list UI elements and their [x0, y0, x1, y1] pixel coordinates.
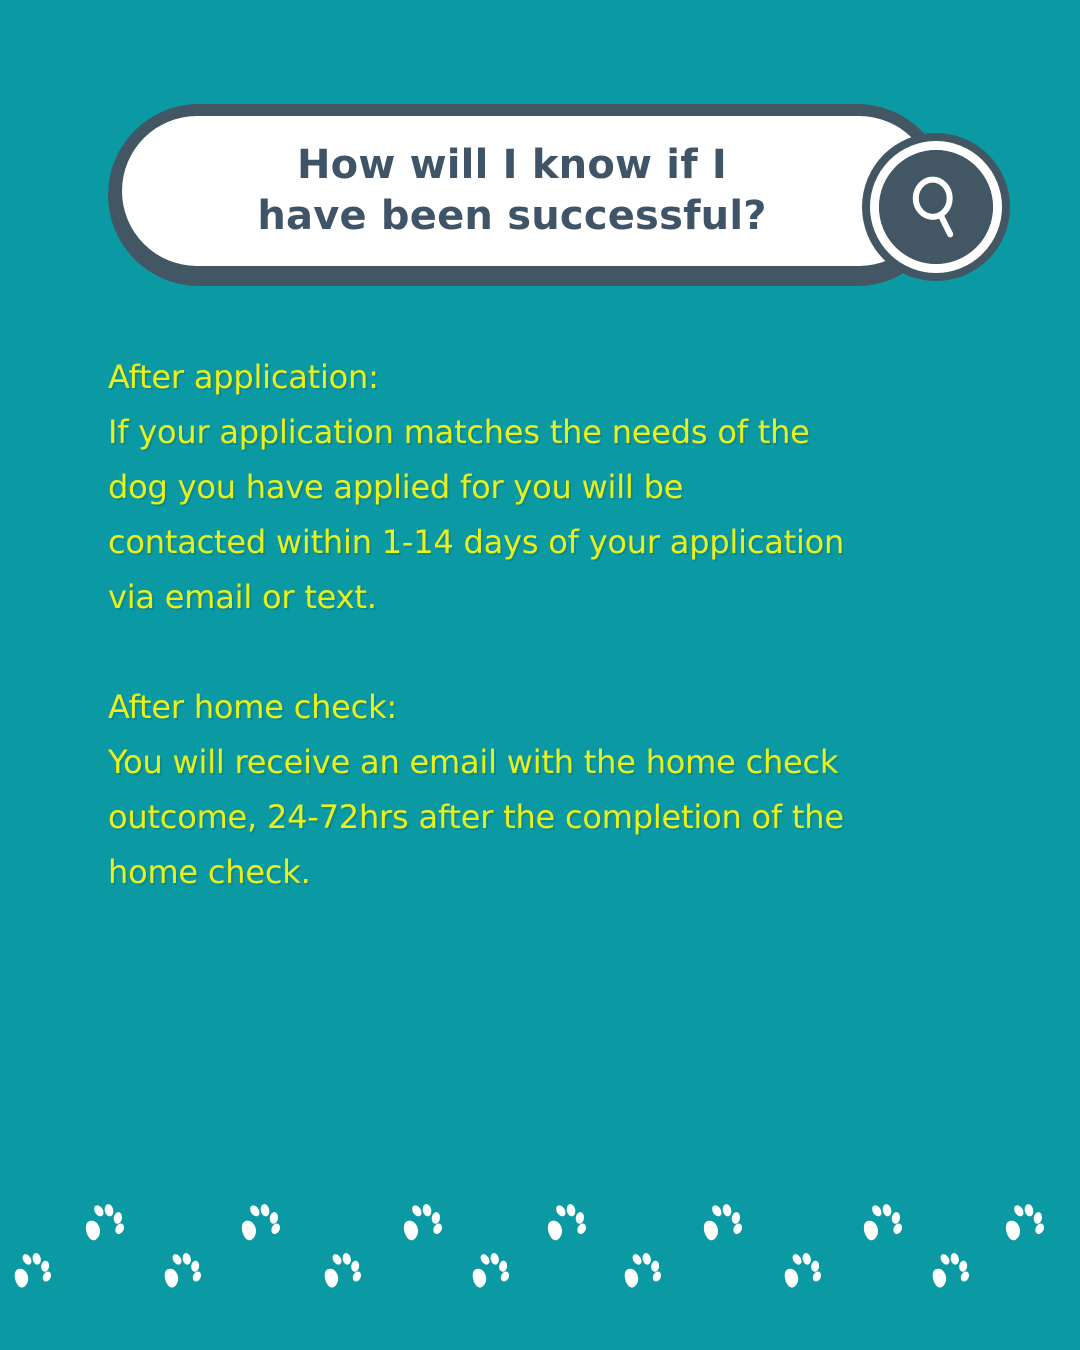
search-icon [901, 172, 971, 242]
paw-print-icon [229, 1193, 290, 1254]
paw-print-icon [2, 1242, 60, 1300]
paragraph-line: dog you have applied for you will be [108, 460, 988, 515]
paw-print-icon [535, 1193, 596, 1254]
paragraph-after-application: After application: If your application m… [108, 350, 988, 625]
header-pill: How will I know if I have been successfu… [108, 104, 948, 286]
paw-print-icon [772, 1242, 830, 1300]
paragraph-line: contacted within 1-14 days of your appli… [108, 515, 988, 570]
paw-print-icon [460, 1242, 518, 1300]
page-title-line-2: have been successful? [182, 191, 842, 242]
paragraph-line: You will receive an email with the home … [108, 735, 988, 790]
paw-print-icon [851, 1193, 912, 1254]
body-copy: After application: If your application m… [108, 350, 988, 900]
paragraph-after-home-check: After home check: You will receive an em… [108, 680, 988, 900]
page-title: How will I know if I have been successfu… [182, 140, 842, 242]
paw-print-icon [391, 1193, 452, 1254]
paragraph-line: home check. [108, 845, 988, 900]
faq-card: How will I know if I have been successfu… [0, 0, 1080, 1350]
header-pill-surface: How will I know if I have been successfu… [122, 116, 934, 266]
paw-print-icon [920, 1242, 978, 1300]
paw-print-icon [312, 1242, 370, 1300]
paragraph-line: outcome, 24-72hrs after the completion o… [108, 790, 988, 845]
paragraph-heading: After home check: [108, 680, 988, 735]
paw-print-icon [73, 1193, 134, 1254]
paw-print-icon [612, 1242, 670, 1300]
page-title-line-1: How will I know if I [182, 140, 842, 191]
paw-print-icon [152, 1242, 210, 1300]
paragraph-line: via email or text. [108, 570, 988, 625]
search-button[interactable] [862, 133, 1010, 281]
paragraph-heading: After application: [108, 350, 988, 405]
paw-print-icon [993, 1193, 1054, 1254]
paw-print-decoration [0, 1190, 1080, 1350]
paw-print-icon [691, 1193, 752, 1254]
paragraph-line: If your application matches the needs of… [108, 405, 988, 460]
